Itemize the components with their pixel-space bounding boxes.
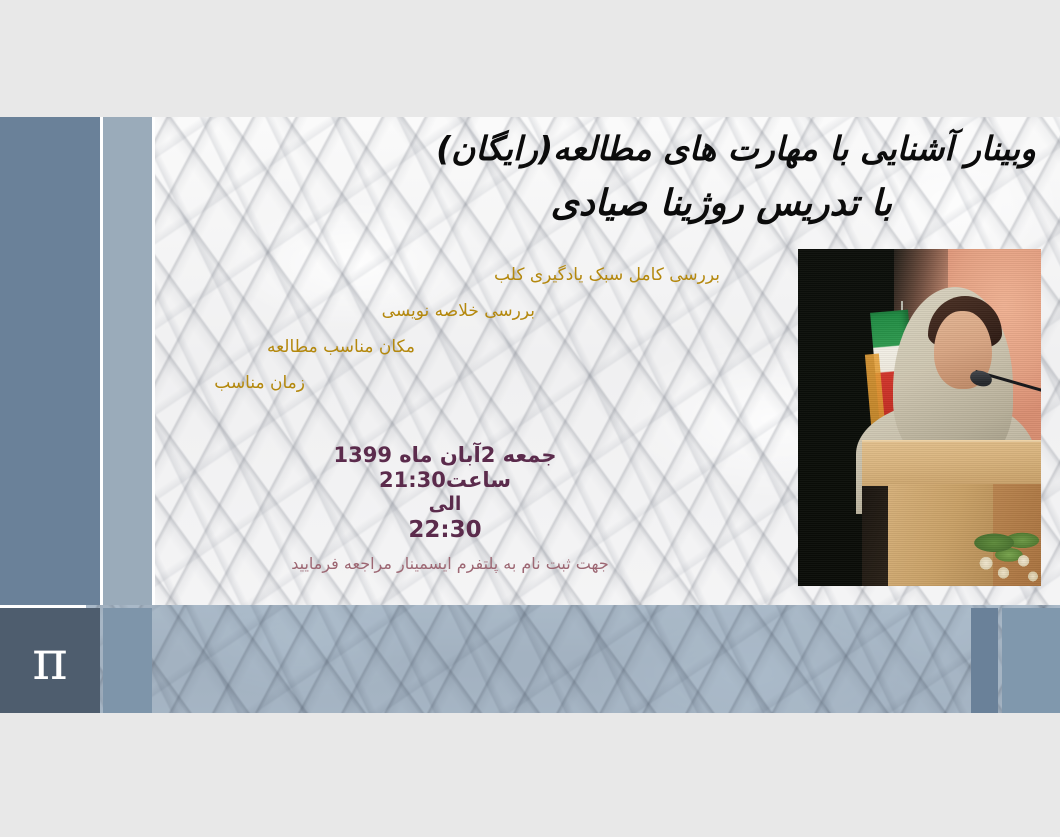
event-date: جمعه 2آبان ماه 1399 bbox=[240, 442, 650, 468]
list-item: مکان مناسب مطالعه bbox=[160, 329, 720, 365]
registration-note: جهت ثبت نام به پلتفرم ایسمینار مراجعه فر… bbox=[180, 552, 720, 576]
event-end-time: 22:30 bbox=[240, 516, 650, 544]
topic-list: بررسی کامل سبک یادگیری کلب بررسی خلاصه ن… bbox=[160, 257, 720, 401]
decor-column-right-light bbox=[1002, 608, 1060, 713]
pi-symbol-block: π bbox=[0, 608, 100, 713]
event-start-time: ساعت21:30 bbox=[240, 468, 650, 492]
marble-background-bottom-band bbox=[86, 605, 1060, 713]
list-item: زمان مناسب bbox=[160, 365, 720, 401]
flower-arrangement bbox=[974, 526, 1041, 586]
podium-left-shadow bbox=[862, 484, 888, 586]
event-until-label: الی bbox=[240, 492, 650, 516]
event-datetime-block: جمعه 2آبان ماه 1399 ساعت21:30 الی 22:30 bbox=[240, 442, 650, 544]
list-item: بررسی کامل سبک یادگیری کلب bbox=[160, 257, 720, 293]
presentation-slide: π وبینار آشنایی با مهارت های مطالعه(رایگ… bbox=[0, 117, 1060, 713]
decor-column-left-dark bbox=[0, 117, 100, 605]
decor-column-left-light bbox=[103, 117, 152, 605]
decor-column-right-dark bbox=[971, 608, 998, 713]
page-canvas: π وبینار آشنایی با مهارت های مطالعه(رایگ… bbox=[0, 0, 1060, 837]
podium-top bbox=[862, 440, 1041, 486]
list-item: بررسی خلاصه نویسی bbox=[160, 293, 720, 329]
decor-column-left-bottom-light bbox=[103, 608, 152, 713]
speaker-photo bbox=[798, 249, 1041, 586]
pi-icon: π bbox=[32, 634, 68, 688]
